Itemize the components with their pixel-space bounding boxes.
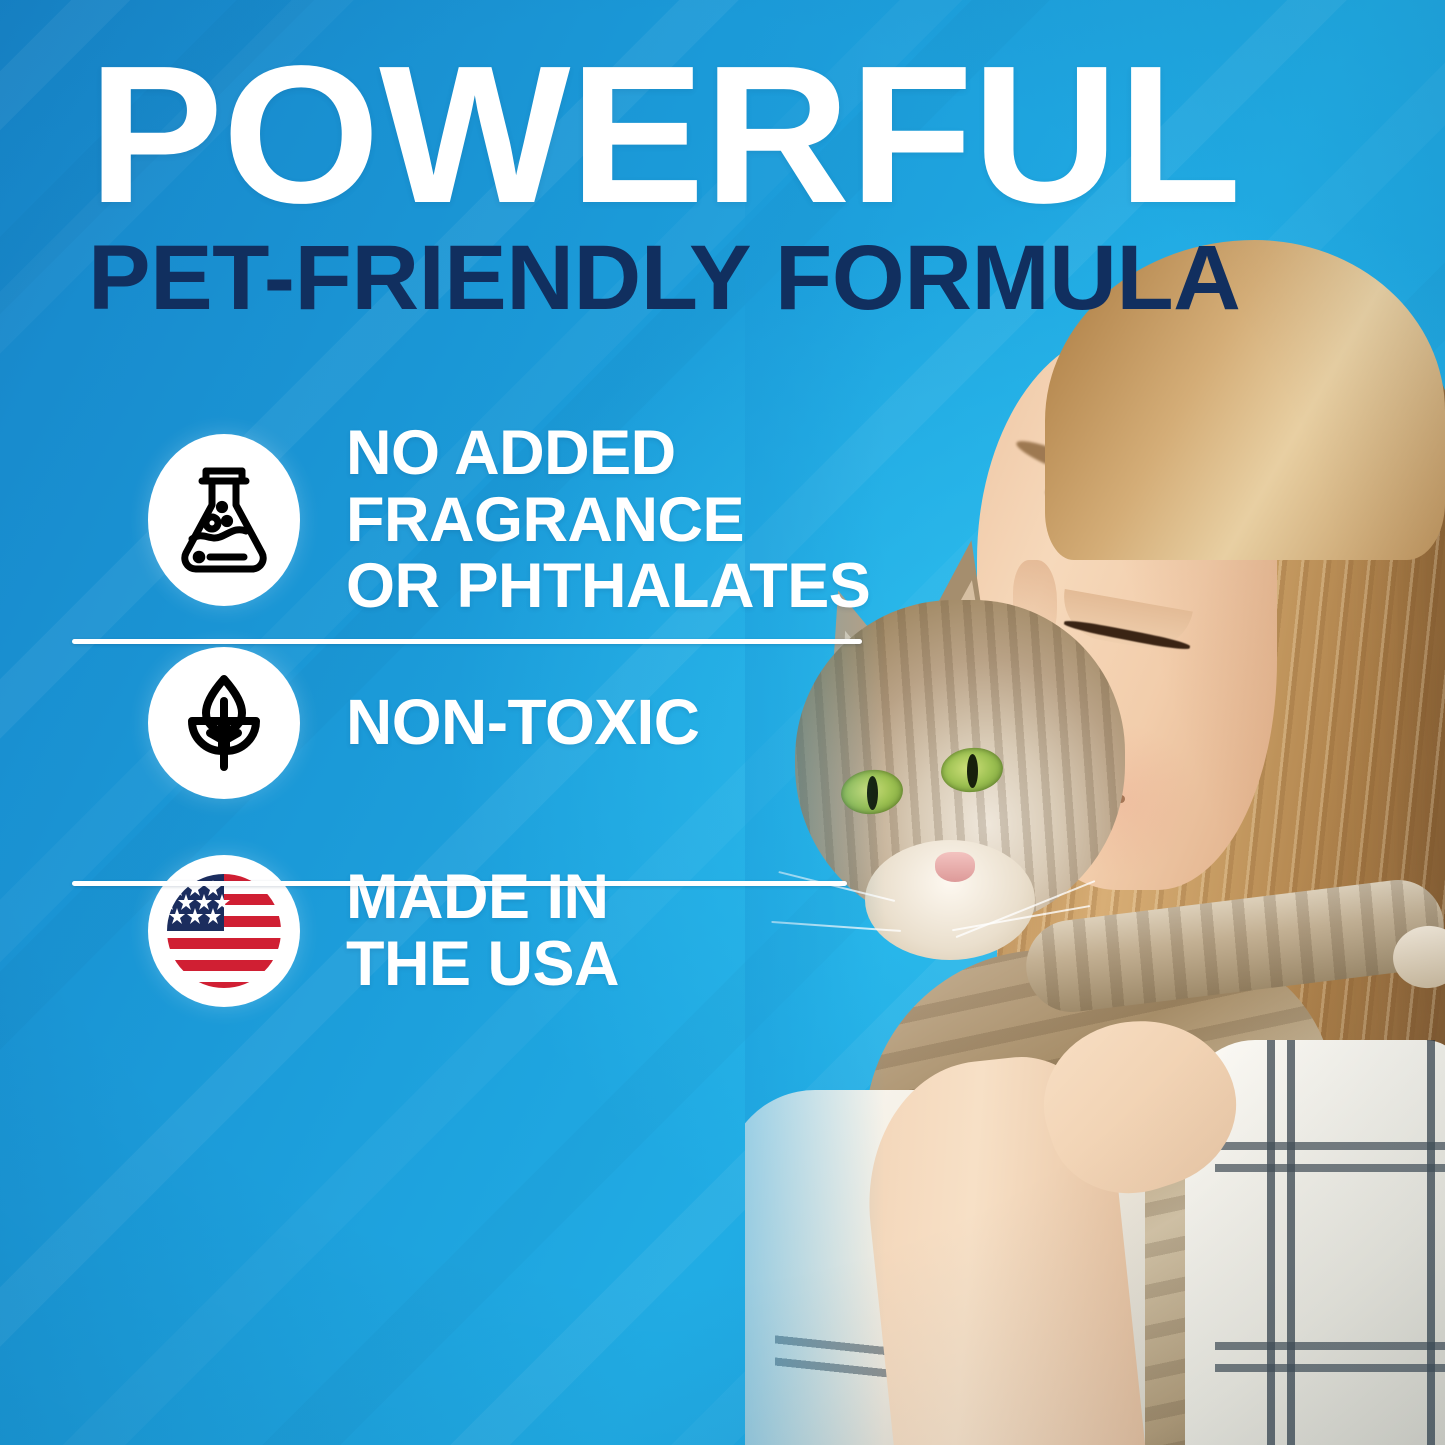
feature-item-no-added-fragrance: NO ADDED FRAGRANCE OR PHTHALATES <box>0 425 900 615</box>
feature-item-made-in-usa: MADE IN THE USA <box>0 831 900 1031</box>
plant-leaf-icon <box>148 647 300 799</box>
feature-item-non-toxic: NON-TOXIC <box>0 615 900 831</box>
feature-label: NO ADDED FRAGRANCE OR PHTHALATES <box>346 420 870 620</box>
headline-block: POWERFUL PET-FRIENDLY FORMULA <box>88 58 1208 318</box>
flask-icon <box>148 434 300 606</box>
feature-label: NON-TOXIC <box>346 689 699 757</box>
usa-flag-icon <box>148 855 300 1007</box>
feature-divider <box>72 881 847 886</box>
page-title: POWERFUL <box>88 58 1247 213</box>
page-subtitle: PET-FRIENDLY FORMULA <box>88 239 1230 318</box>
feature-list: NO ADDED FRAGRANCE OR PHTHALATES NON-TOX… <box>0 425 900 1031</box>
feature-divider <box>72 639 862 644</box>
product-feature-poster: POWERFUL PET-FRIENDLY FORMULA <box>0 0 1445 1445</box>
